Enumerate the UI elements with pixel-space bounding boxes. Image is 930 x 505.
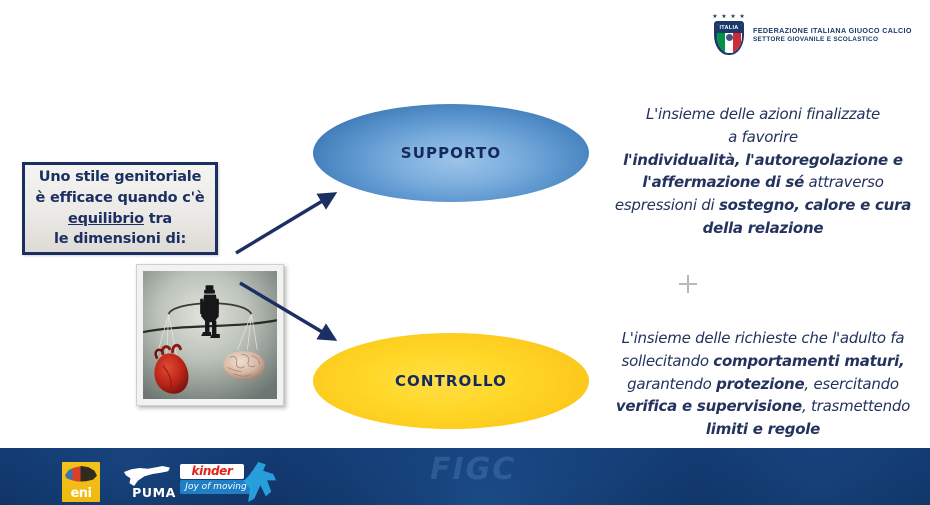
sponsor-puma-logo: PUMA <box>122 466 186 500</box>
kinder-wordmark: kinder <box>180 464 244 479</box>
node-controllo-label: CONTROLLO <box>395 372 507 390</box>
para-controllo-s2: comportamenti maturi, <box>713 352 904 370</box>
para-controllo-s3: garantendo <box>627 375 716 393</box>
figc-shield-icon: ★ ★ ★ ★ ITALIA <box>712 14 746 56</box>
kinder-figure-icon <box>242 462 276 502</box>
node-controllo[interactable]: CONTROLLO <box>313 333 589 429</box>
callout-box: Uno stile genitoriale è efficace quando … <box>22 162 218 255</box>
callout-line-1: Uno stile genitoriale <box>39 169 201 185</box>
node-supporto[interactable]: SUPPORTO <box>313 104 589 202</box>
puma-wordmark: PUMA <box>122 485 186 500</box>
para-supporto-s5: sostegno, calore e cura della relazione <box>703 196 911 237</box>
node-supporto-label: SUPPORTO <box>401 144 501 162</box>
eni-wordmark: eni <box>62 486 100 501</box>
para-controllo-s8: limiti e regole <box>706 420 820 438</box>
arrow-to-supporto <box>236 194 334 253</box>
para-controllo-s6: verifica e supervisione <box>616 397 802 415</box>
football-icon <box>726 34 733 41</box>
figc-logo: ★ ★ ★ ★ ITALIA FEDERAZIONE ITALIANA GIUO… <box>712 13 882 57</box>
callout-line-4: le dimensioni di: <box>54 231 186 247</box>
callout-line-3-underlined: equilibrio <box>68 211 144 227</box>
para-supporto-s1: L'insieme delle azioni finalizzate <box>646 105 880 123</box>
para-controllo-s4: protezione <box>716 375 804 393</box>
paragraph-supporto: L'insieme delle azioni finalizzate a fav… <box>600 103 926 240</box>
balance-illustration <box>143 271 277 399</box>
callout-text: Uno stile genitoriale è efficace quando … <box>35 167 204 249</box>
shield-inner: ITALIA <box>717 24 742 53</box>
kinder-tagline: Joy of moving <box>180 480 252 494</box>
para-controllo-s7: , trasmettendo <box>802 397 910 415</box>
presentation-slide: ★ ★ ★ ★ ITALIA FEDERAZIONE ITALIANA GIUO… <box>0 0 930 505</box>
figc-watermark: FIGC <box>430 452 516 487</box>
puma-cat-icon <box>124 466 170 486</box>
callout-line-3-rest: tra <box>144 211 172 227</box>
para-controllo-s5: , esercitando <box>804 375 898 393</box>
sponsor-eni-logo: eni <box>62 462 100 502</box>
paragraph-controllo: L'insieme delle richieste che l'adulto f… <box>598 327 928 441</box>
figc-sector-name: SETTORE GIOVANILE E SCOLASTICO <box>753 36 912 45</box>
figc-federation-name: FEDERAZIONE ITALIANA GIUOCO CALCIO <box>753 26 912 36</box>
eni-dog-icon <box>65 464 97 484</box>
shield-shape: ITALIA <box>714 21 744 55</box>
balance-photo <box>136 264 284 406</box>
crosshair-placeholder-icon <box>679 275 697 293</box>
shield-italia-label: ITALIA <box>717 24 742 33</box>
figc-logo-text: FEDERAZIONE ITALIANA GIUOCO CALCIO SETTO… <box>753 26 912 44</box>
sponsor-kinder-logo: kinder Joy of moving <box>180 462 276 502</box>
shield-stars: ★ ★ ★ ★ <box>712 14 746 20</box>
para-supporto-s2: a favorire <box>728 128 798 146</box>
balance-photo-image <box>143 271 277 399</box>
callout-line-2: è efficace quando c'è <box>35 190 204 206</box>
